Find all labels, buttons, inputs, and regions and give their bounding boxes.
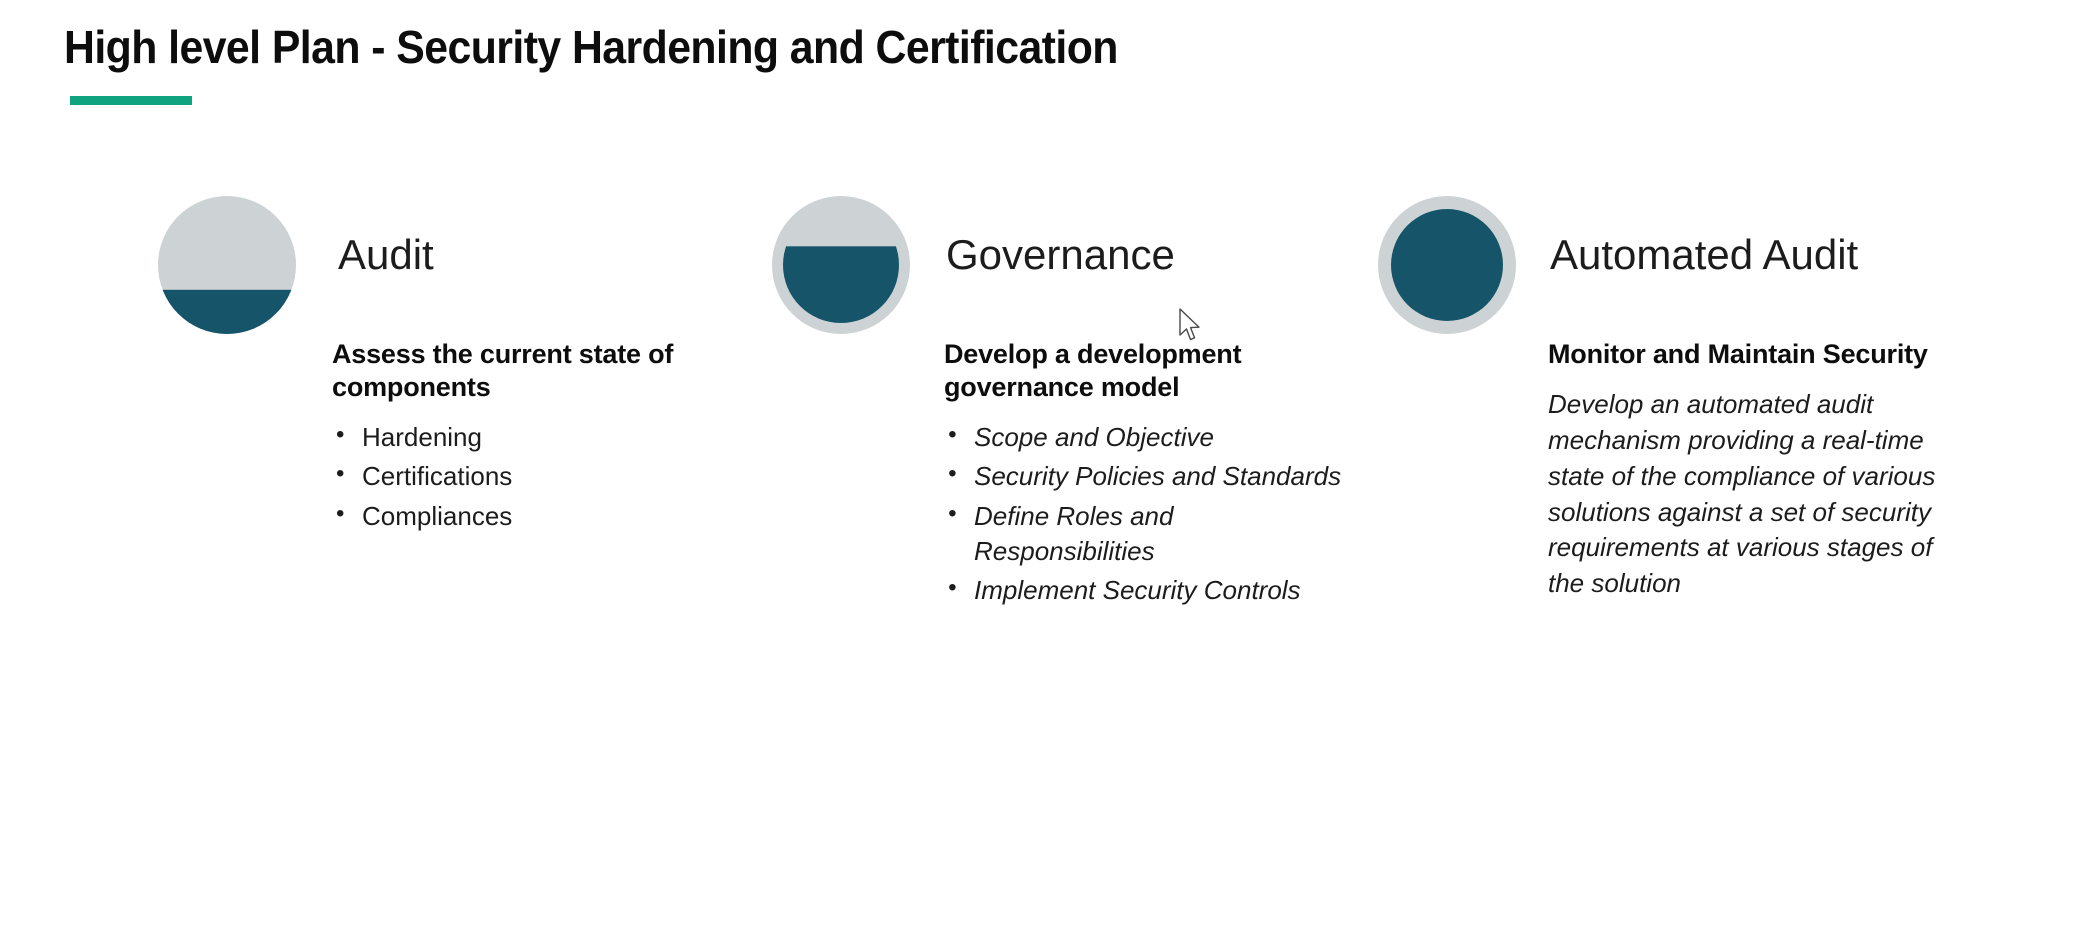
list-item: Scope and Objective	[944, 420, 1344, 455]
column-subheading-audit: Assess the current state of components	[332, 338, 752, 404]
two-thirds-filled-circle-icon	[772, 196, 910, 334]
title-accent-bar	[70, 96, 192, 105]
list-item: Security Policies and Standards	[944, 459, 1344, 494]
list-item: Hardening	[332, 420, 752, 455]
column-automated-audit: Automated Audit Monitor and Maintain Sec…	[1370, 190, 1990, 340]
column-heading-audit: Audit	[338, 232, 434, 278]
list-item: Certifications	[332, 459, 752, 494]
slide-canvas: High level Plan - Security Hardening and…	[0, 0, 2082, 930]
column-body-automated-audit: Monitor and Maintain Security Develop an…	[1548, 338, 1968, 602]
column-heading-governance: Governance	[946, 232, 1175, 278]
list-item: Implement Security Controls	[944, 573, 1344, 608]
column-body-audit: Assess the current state of components H…	[332, 338, 752, 539]
bullet-list-audit: Hardening Certifications Compliances	[332, 420, 752, 534]
bullet-list-governance: Scope and Objective Security Policies an…	[944, 420, 1344, 608]
column-subheading-automated-audit: Monitor and Maintain Security	[1548, 338, 1968, 371]
gauge-row-governance: Governance	[764, 190, 1364, 340]
page-title: High level Plan - Security Hardening and…	[64, 22, 1645, 74]
list-item: Define Roles and Responsibilities	[944, 499, 1344, 568]
column-body-governance: Develop a development governance model S…	[944, 338, 1344, 613]
column-subheading-governance: Develop a development governance model	[944, 338, 1344, 404]
column-audit: Audit Assess the current state of compon…	[150, 190, 750, 340]
column-governance: Governance Develop a development governa…	[764, 190, 1364, 340]
fully-filled-circle-icon	[1378, 196, 1516, 334]
columns-container: Audit Assess the current state of compon…	[0, 190, 2082, 890]
gauge-row-audit: Audit	[150, 190, 750, 340]
half-filled-circle-icon	[158, 196, 296, 334]
title-block: High level Plan - Security Hardening and…	[64, 22, 1764, 74]
list-item: Compliances	[332, 499, 752, 534]
column-paragraph-automated-audit: Develop an automated audit mechanism pro…	[1548, 387, 1968, 602]
column-heading-automated-audit: Automated Audit	[1550, 232, 1858, 278]
gauge-row-automated-audit: Automated Audit	[1370, 190, 1990, 340]
